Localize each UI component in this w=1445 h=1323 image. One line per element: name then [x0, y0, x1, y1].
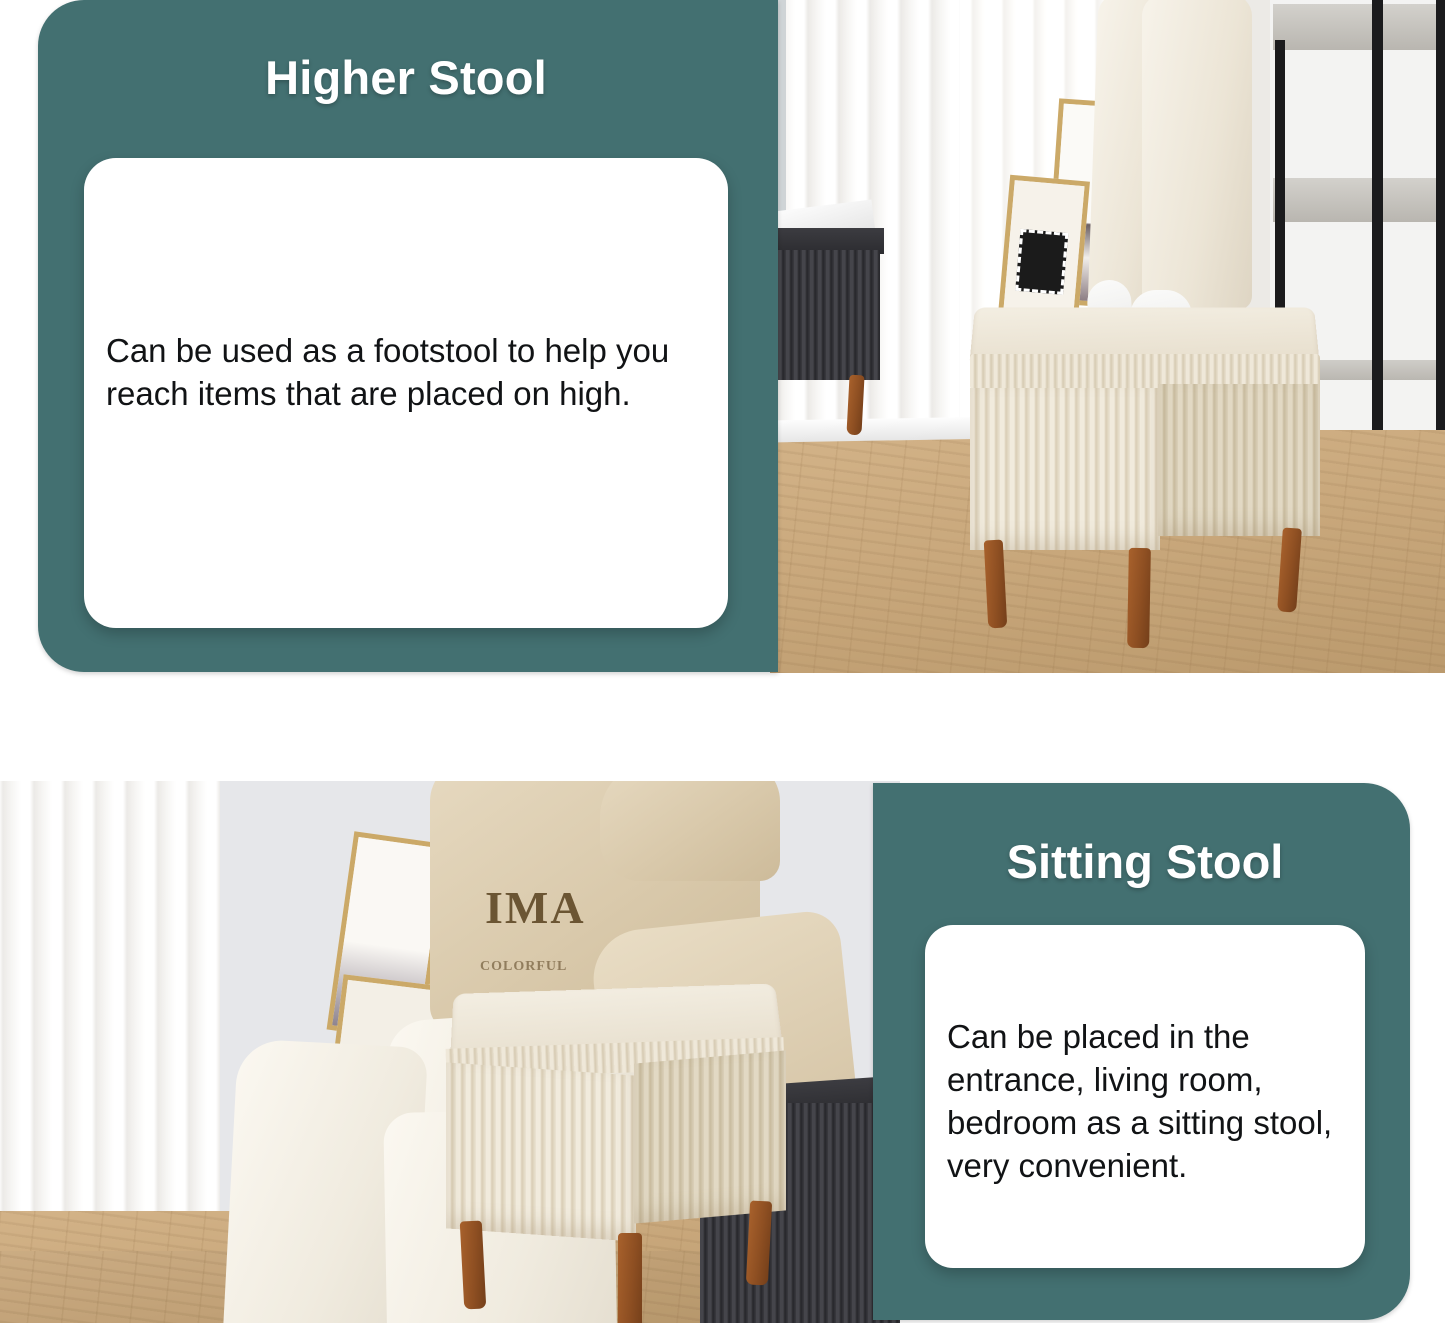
panel-body-higher-stool: Can be used as a footstool to help you r…: [106, 330, 716, 416]
infographic-page: Higher Stool Can be used as a footstool …: [0, 0, 1445, 1323]
hood: [600, 781, 780, 881]
panel-title-sitting-stool: Sitting Stool: [925, 834, 1365, 889]
dark-bench-body: [700, 1103, 900, 1323]
panel-higher-stool: Higher Stool Can be used as a footstool …: [0, 0, 1445, 673]
higher-stool-photo: [770, 0, 1445, 673]
ottoman-front-face: [970, 388, 1160, 550]
frame-mat-front: [1003, 180, 1084, 316]
frame-artwork-front: [1015, 229, 1068, 295]
panel-title-higher-stool: Higher Stool: [84, 50, 728, 105]
panel-sitting-stool: IMA COLORFUL: [0, 781, 1445, 1323]
ottoman-side-face: [1158, 384, 1320, 536]
scene-sitting-stool: IMA COLORFUL: [0, 781, 900, 1323]
scene-higher-stool: [770, 0, 1445, 673]
panel-body-sitting-stool: Can be placed in the entrance, living ro…: [947, 1016, 1367, 1188]
shelf-board-top: [1273, 4, 1445, 50]
shelf-board-middle: [1273, 178, 1445, 222]
picture-frame-front: [998, 175, 1090, 321]
hoodie-graphic-text: IMA: [485, 881, 586, 934]
trouser-leg-right: [1142, 0, 1252, 310]
dark-ottoman-body: [770, 250, 880, 380]
curtain-panel-2: [0, 781, 220, 1251]
trousers-shin-right: [383, 1109, 619, 1323]
dark-ottoman-leg: [846, 375, 864, 436]
hoodie-subtext: COLORFUL: [480, 959, 567, 975]
sitting-stool-photo: IMA COLORFUL: [0, 781, 900, 1323]
ottoman-leg-front-right: [1127, 548, 1151, 648]
